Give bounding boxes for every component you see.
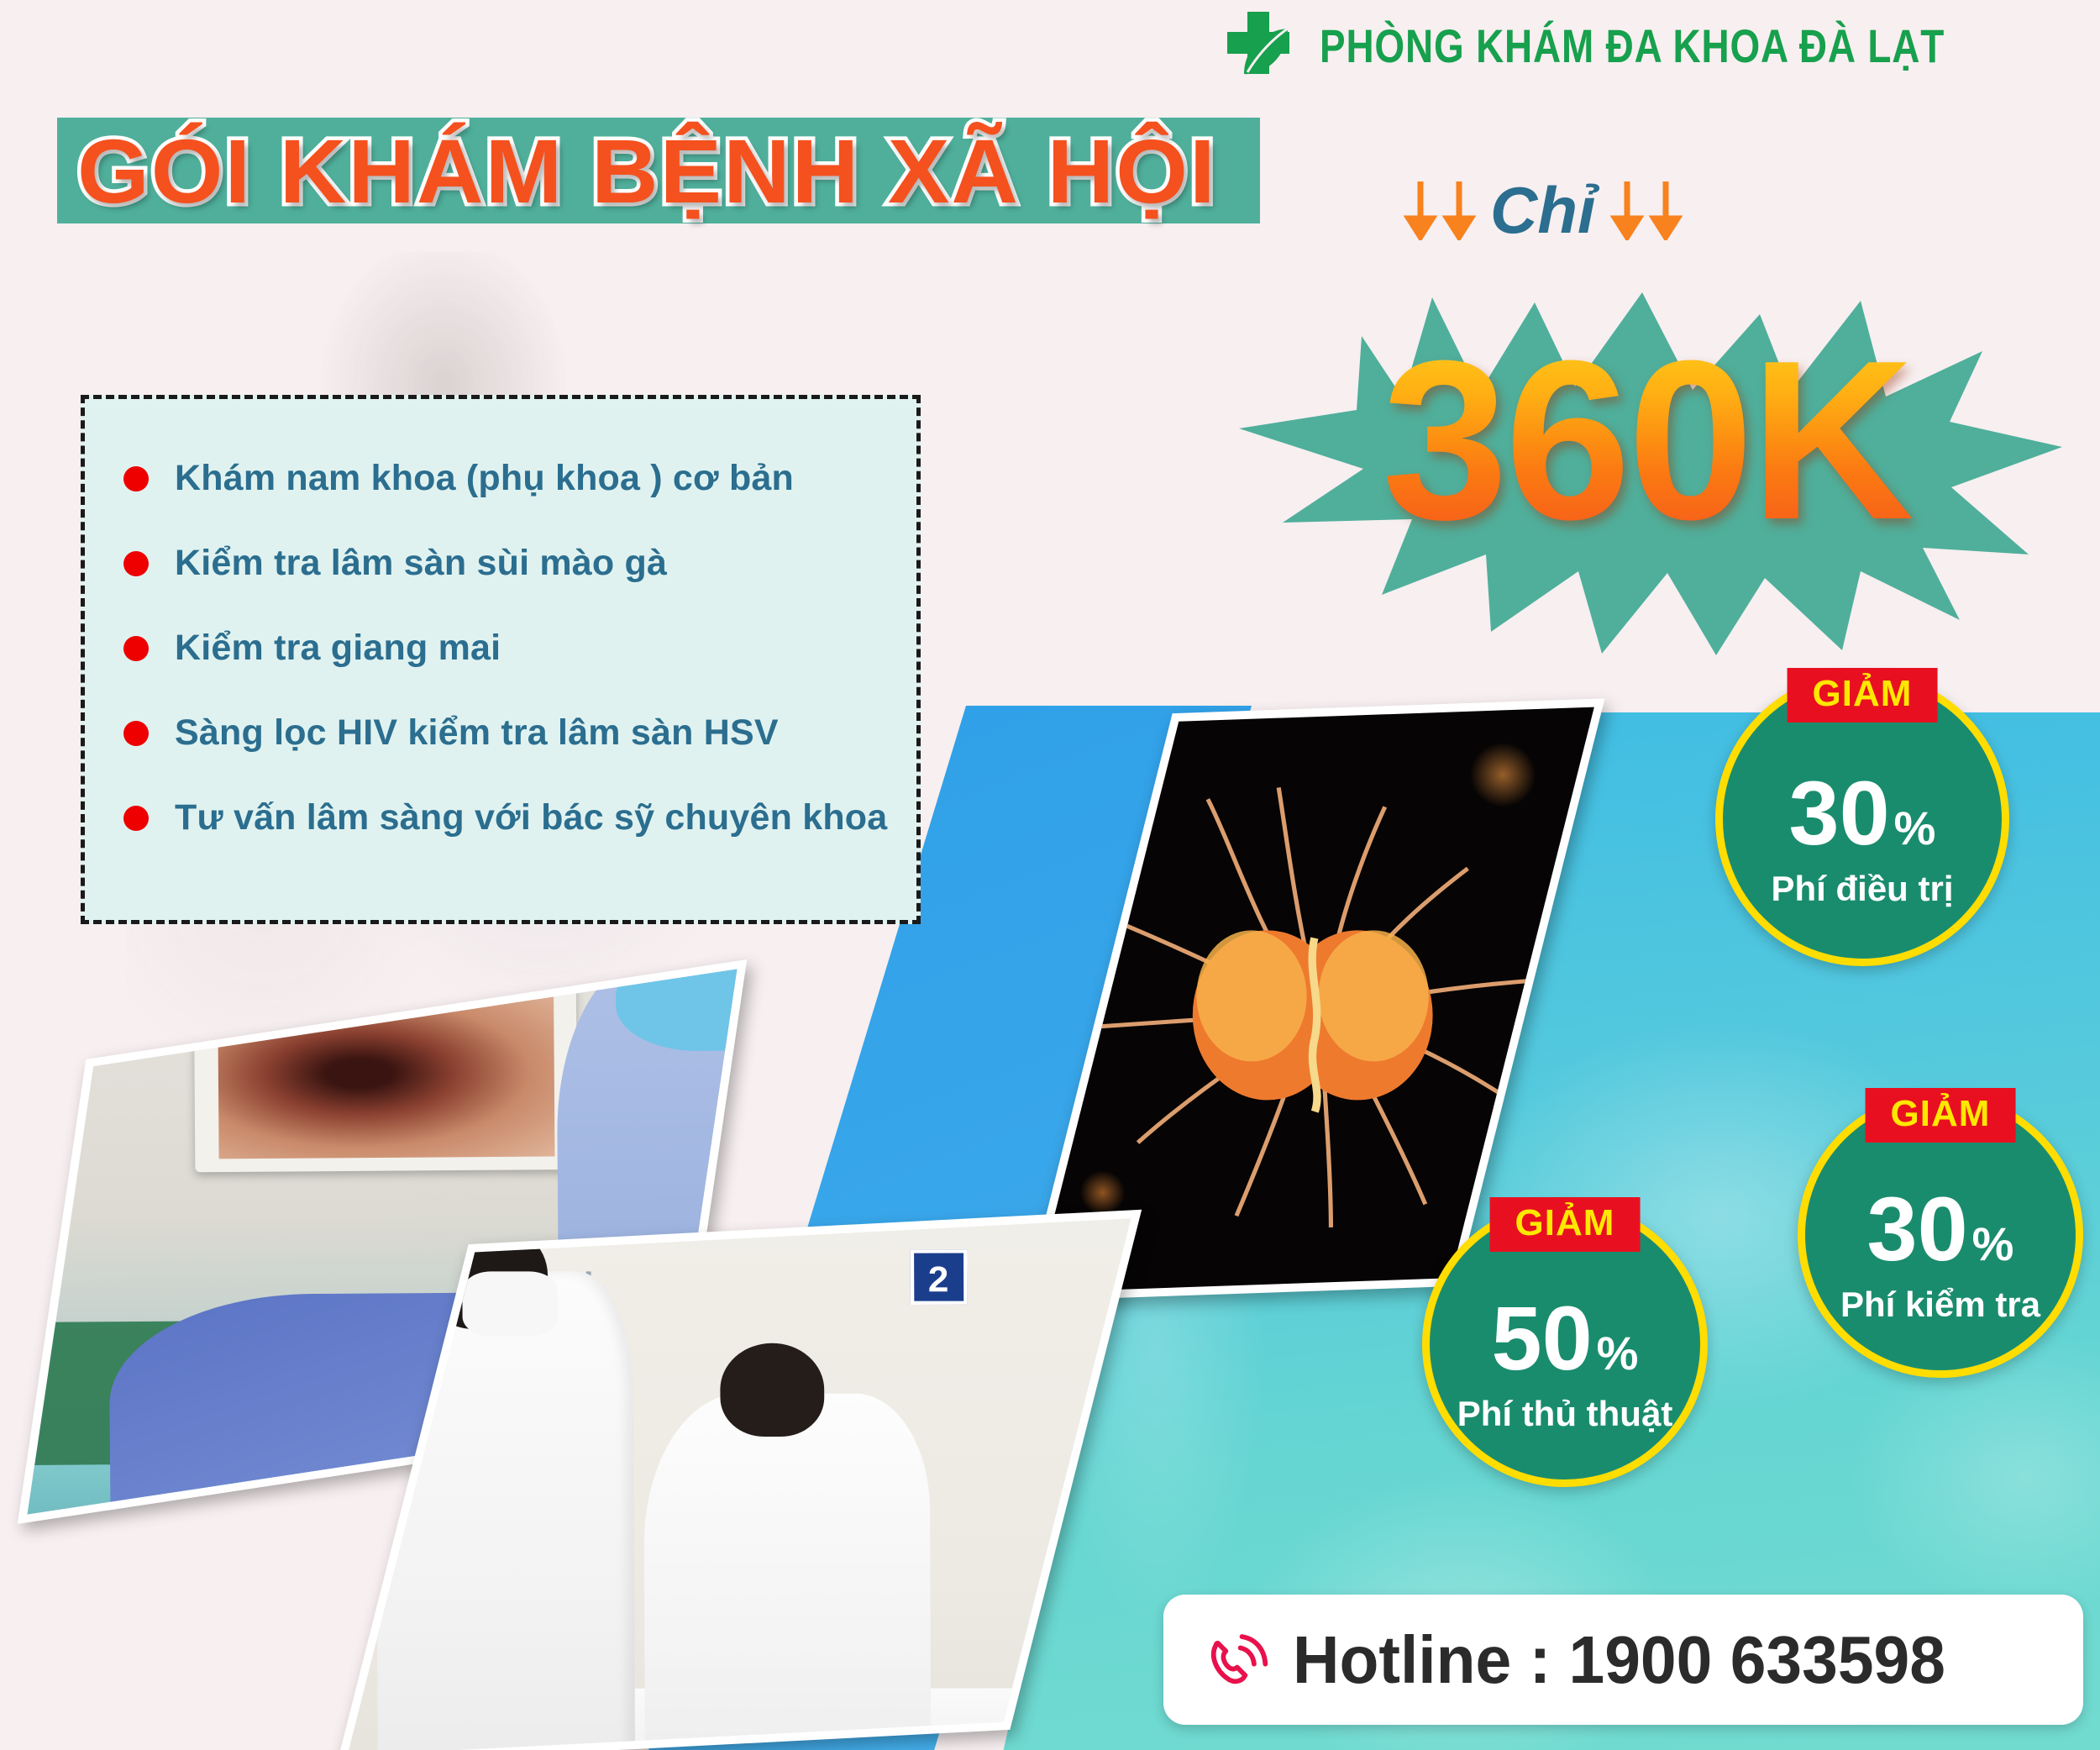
percent-symbol: %	[1894, 805, 1936, 852]
bullet-dot-icon	[123, 721, 149, 746]
face-mask-icon	[462, 1271, 558, 1336]
discount-ribbon-label: GIẢM	[1788, 668, 1938, 723]
bullet-dot-icon	[123, 551, 149, 576]
doctor-head-2	[720, 1343, 825, 1437]
list-item: Kiểm tra lâm sàn sùi mào gà	[123, 521, 891, 606]
price-amount: 360K	[1222, 319, 2071, 563]
percent-symbol: %	[1972, 1221, 2014, 1268]
services-list: Khám nam khoa (phụ khoa ) cơ bản Kiểm tr…	[81, 395, 921, 924]
discount-percent: 30 %	[1867, 1184, 2014, 1274]
arrow-down-icon	[1608, 180, 1646, 240]
arrow-down-icon	[1401, 180, 1440, 240]
discount-percent-number: 30	[1867, 1184, 1968, 1274]
price-prefix-label: Chỉ	[1490, 180, 1596, 240]
medical-cross-leaf-icon	[1222, 7, 1299, 84]
list-item-label: Kiểm tra lâm sàn sùi mào gà	[175, 543, 667, 584]
banner-canvas: PHÒNG KHÁM ĐA KHOA ĐÀ LẠT GÓI KHÁM BỆNH …	[0, 0, 2100, 1750]
list-item: Khám nam khoa (phụ khoa ) cơ bản	[123, 436, 891, 521]
list-item: Sàng lọc HIV kiểm tra lâm sàn HSV	[123, 691, 891, 775]
discount-badge-procedure[interactable]: GIẢM 50 % Phí thủ thuật	[1422, 1201, 1708, 1487]
discount-percent-number: 30	[1789, 768, 1890, 859]
discount-percent-number: 50	[1492, 1293, 1593, 1384]
hotline-number: Hotline : 1900 633598	[1293, 1621, 1945, 1699]
bed-number-sign-2: 2	[910, 1249, 967, 1305]
discount-percent: 30 %	[1789, 768, 1936, 859]
hospital-room-photo-background: 1 2	[347, 1218, 1131, 1750]
hospital-room-photo: 1 2	[337, 1210, 1142, 1750]
list-item-label: Khám nam khoa (phụ khoa ) cơ bản	[175, 458, 794, 499]
list-item-label: Sàng lọc HIV kiểm tra lâm sàn HSV	[175, 712, 779, 754]
percent-symbol: %	[1597, 1330, 1639, 1377]
discount-scope-label: Phí kiểm tra	[1840, 1285, 2040, 1325]
hotline-bar[interactable]: Hotline : 1900 633598	[1163, 1595, 2083, 1725]
discount-badge-treatment[interactable]: GIẢM 30 % Phí điều trị	[1715, 672, 2009, 966]
hospital-room-photo-inner: 1 2	[347, 1218, 1131, 1750]
list-item: Kiểm tra giang mai	[123, 606, 891, 691]
list-item: Tư vấn lâm sàng với bác sỹ chuyên khoa	[123, 775, 891, 860]
brand-name: PHÒNG KHÁM ĐA KHOA ĐÀ LẠT	[1320, 18, 1945, 73]
discount-ribbon-label: GIẢM	[1866, 1088, 2016, 1143]
discount-percent: 50 %	[1492, 1293, 1639, 1384]
bullet-dot-icon	[123, 806, 149, 831]
phone-ringing-icon	[1192, 1617, 1273, 1702]
discount-scope-label: Phí điều trị	[1771, 869, 1953, 909]
page-title: GÓI KHÁM BỆNH XÃ HỘI	[77, 120, 1277, 223]
arrow-down-icon	[1646, 180, 1685, 240]
list-item-label: Tư vấn lâm sàng với bác sỹ chuyên khoa	[175, 797, 887, 838]
list-item-label: Kiểm tra giang mai	[175, 628, 501, 669]
brand-logo: PHÒNG KHÁM ĐA KHOA ĐÀ LẠT	[1222, 7, 2082, 84]
bullet-dot-icon	[123, 466, 149, 491]
discount-scope-label: Phí thủ thuật	[1457, 1394, 1673, 1434]
price-prefix-row: Chỉ	[1401, 180, 1685, 240]
discount-ribbon-label: GIẢM	[1490, 1197, 1641, 1252]
discount-badge-examination[interactable]: GIẢM 30 % Phí kiểm tra	[1798, 1092, 2083, 1378]
doctor-examining	[643, 1394, 932, 1750]
bullet-dot-icon	[123, 636, 149, 661]
arrow-down-icon	[1440, 180, 1478, 240]
